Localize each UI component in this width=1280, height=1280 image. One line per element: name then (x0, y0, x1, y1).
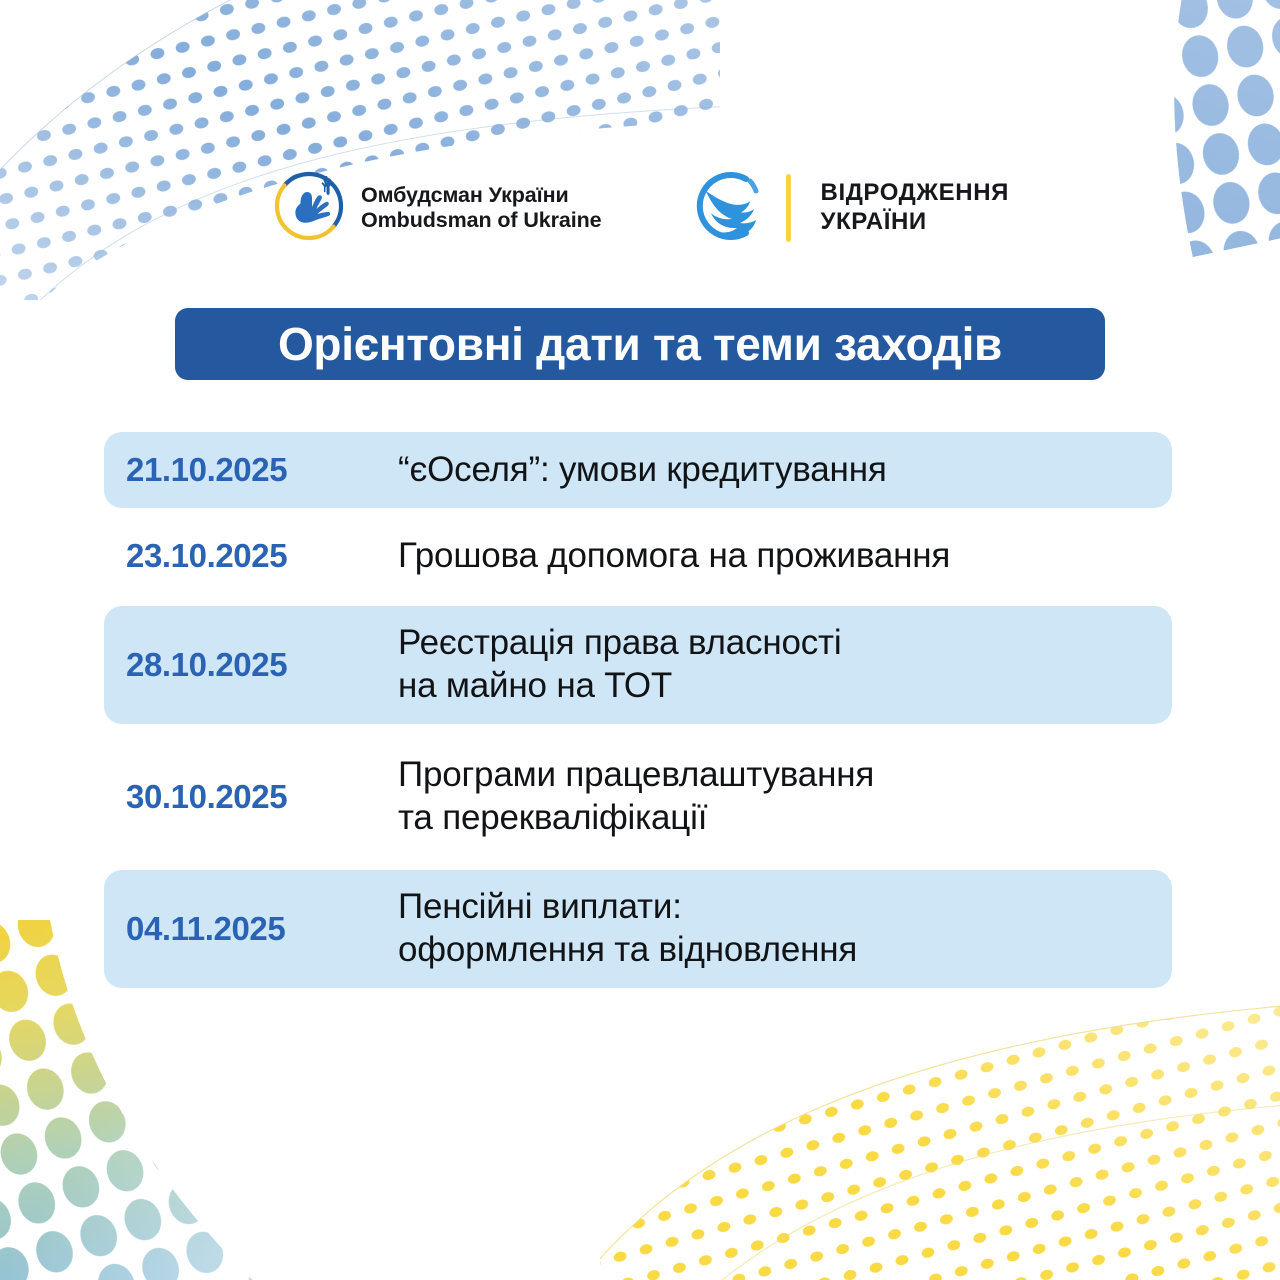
poster-canvas: Омбудсман України Ombudsman of Ukraine В… (0, 0, 1280, 1280)
page-title: Орієнтовні дати та теми заходів (278, 321, 1002, 367)
ombudsman-logo-line2: Ombudsman of Ukraine (361, 208, 602, 233)
schedule-row-date: 04.11.2025 (126, 910, 398, 948)
schedule-row-date: 30.10.2025 (126, 778, 398, 816)
schedule-row-date: 28.10.2025 (126, 646, 398, 684)
schedule-row-date: 23.10.2025 (126, 537, 398, 575)
vidrodzhennya-logo-line1: ВІДРОДЖЕННЯ (821, 179, 1009, 208)
schedule-row: 23.10.2025 Грошова допомога на проживанн… (104, 518, 1172, 594)
schedule-row: 04.11.2025 Пенсійні виплати: оформлення … (104, 870, 1172, 988)
logo-ombudsman: Омбудсман України Ombudsman of Ukraine (271, 168, 602, 249)
vidrodzhennya-logo-line2: УКРАЇНИ (821, 208, 1009, 237)
page-title-banner: Орієнтовні дати та теми заходів (175, 308, 1105, 380)
phoenix-bird-circle-icon (688, 167, 766, 250)
schedule-row: 30.10.2025 Програми працевлаштування та … (104, 738, 1172, 856)
vidrodzhennya-logo-text: ВІДРОДЖЕННЯ УКРАЇНИ (821, 179, 1009, 237)
schedule-row-theme: Реєстрація права власності на майно на Т… (398, 622, 1172, 707)
schedule-row-date: 21.10.2025 (126, 451, 398, 489)
schedule-list: 21.10.2025 “єОселя”: умови кредитування … (104, 432, 1172, 988)
logo-vidrodzhennya: ВІДРОДЖЕННЯ УКРАЇНИ (688, 167, 1009, 250)
ombudsman-logo-line1: Омбудсман України (361, 183, 602, 208)
logo-row: Омбудсман України Ombudsman of Ukraine В… (0, 160, 1280, 256)
ombudsman-dove-trident-icon (271, 168, 347, 249)
schedule-row-theme: “єОселя”: умови кредитування (398, 449, 1172, 492)
schedule-row-theme: Програми працевлаштування та перекваліфі… (398, 754, 1172, 839)
schedule-row: 28.10.2025 Реєстрація права власності на… (104, 606, 1172, 724)
schedule-row-theme: Пенсійні виплати: оформлення та відновле… (398, 886, 1172, 971)
schedule-row-theme: Грошова допомога на проживання (398, 535, 1172, 578)
ombudsman-logo-text: Омбудсман України Ombudsman of Ukraine (361, 183, 602, 234)
schedule-row: 21.10.2025 “єОселя”: умови кредитування (104, 432, 1172, 508)
logo-divider (786, 174, 791, 242)
decor-bottom-right-yellow-wave (600, 940, 1280, 1280)
